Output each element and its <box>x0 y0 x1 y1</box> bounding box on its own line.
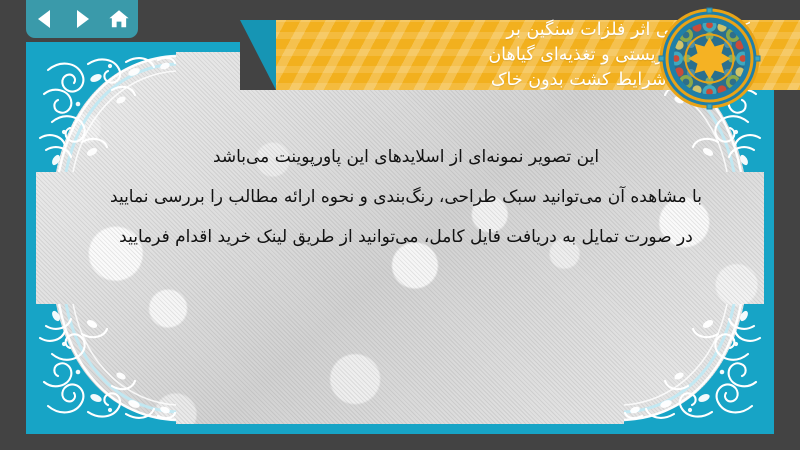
home-button[interactable] <box>106 6 132 32</box>
slide-body-text: این تصویر نمونه‌ای از اسلایدهای این پاور… <box>76 137 736 257</box>
persian-medallion-ornament <box>658 7 761 110</box>
slide-border-bottom <box>26 424 774 434</box>
home-icon <box>108 8 130 30</box>
triangle-left-icon <box>36 9 54 29</box>
slide-border-right <box>764 42 774 434</box>
navigation-toolbar <box>26 0 138 38</box>
next-slide-button[interactable] <box>69 6 95 32</box>
triangle-right-icon <box>73 9 91 29</box>
slide-border-left <box>26 42 36 434</box>
previous-slide-button[interactable] <box>32 6 58 32</box>
presentation-viewer: این تصویر نمونه‌ای از اسلایدهای این پاور… <box>0 0 800 450</box>
